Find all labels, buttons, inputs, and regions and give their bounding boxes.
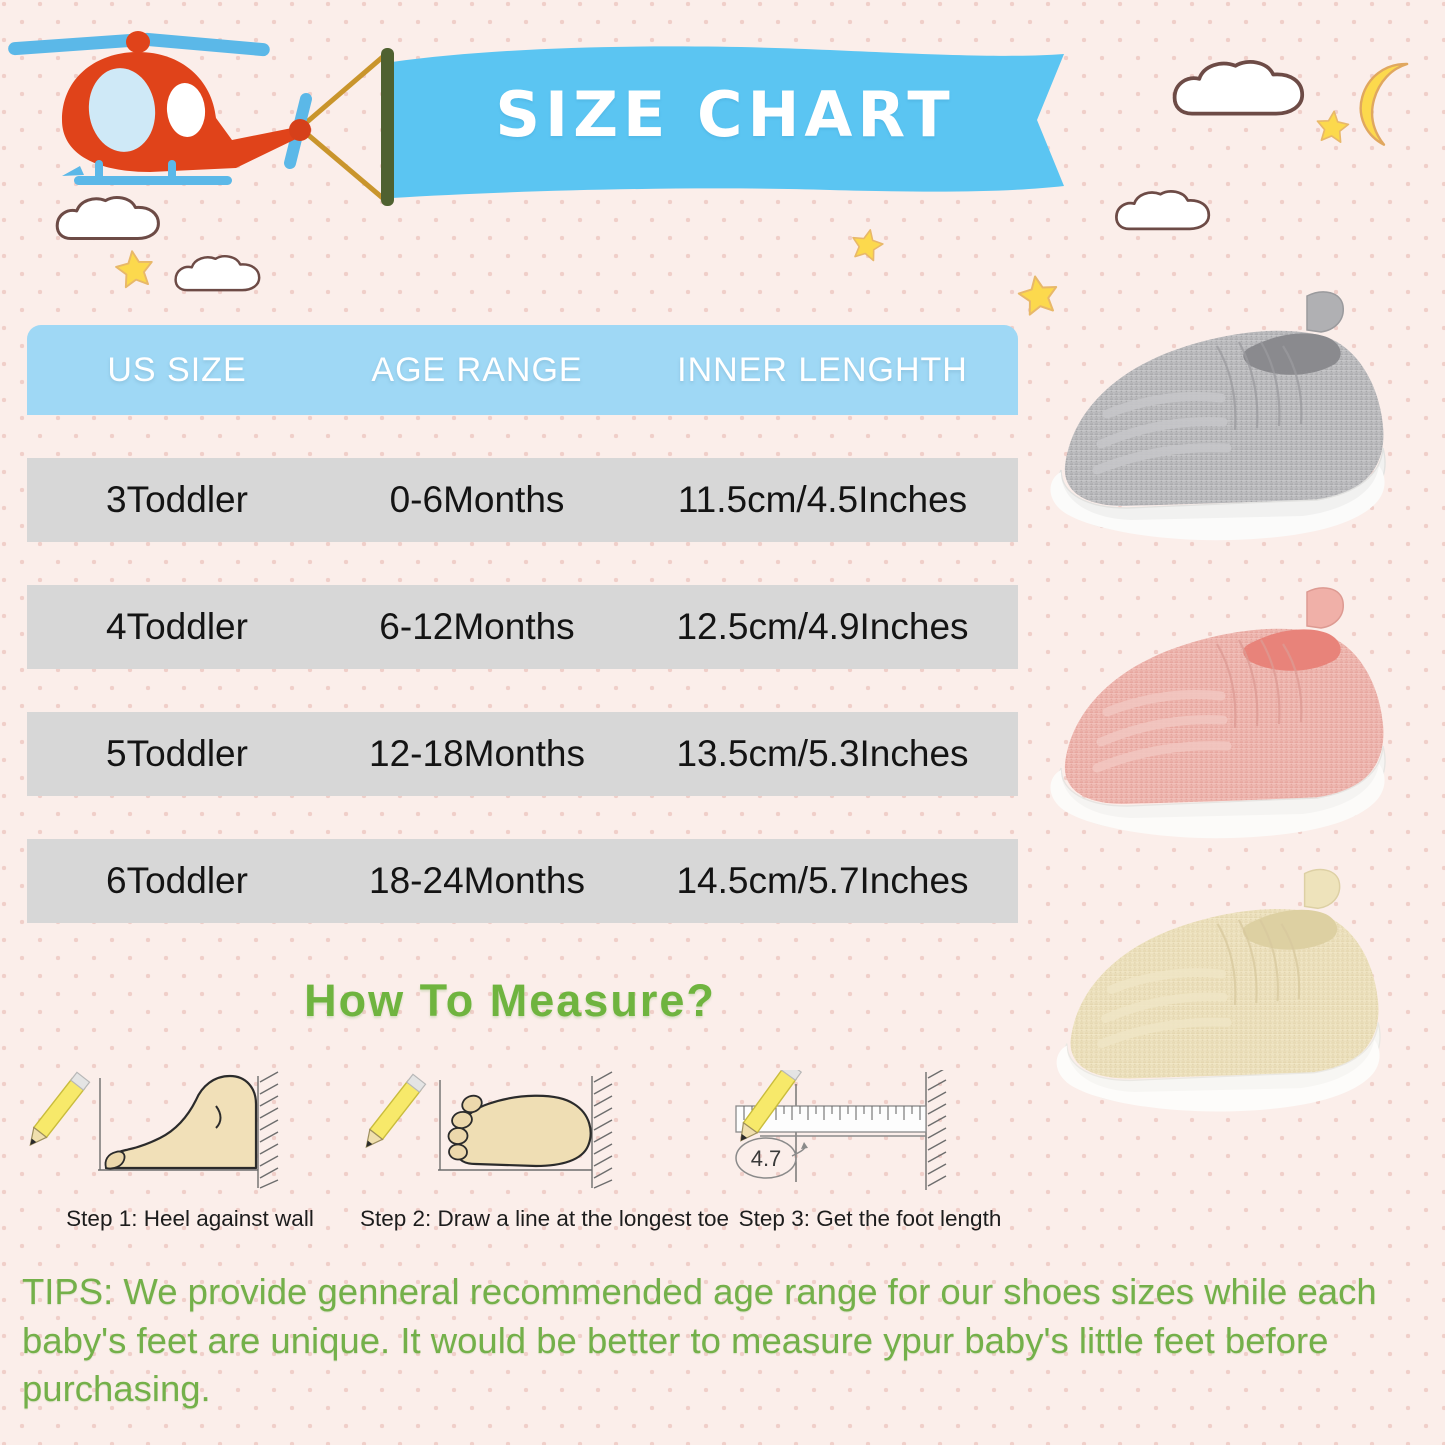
- beige-knit-baby-sneaker: [1035, 860, 1435, 1150]
- star-icon: [1316, 110, 1350, 143]
- step-1-caption: Step 1: Heel against wall: [20, 1206, 360, 1232]
- cell-age-range: 18-24Months: [327, 860, 627, 902]
- cell-us-size: 3Toddler: [27, 479, 327, 521]
- cell-us-size: 6Toddler: [27, 860, 327, 902]
- pencil-icon: [24, 1072, 90, 1150]
- table-header-row: US SIZE AGE RANGE INNER LENGHTH: [27, 325, 1018, 415]
- cell-age-range: 0-6Months: [327, 479, 627, 521]
- banner-ropes: [300, 55, 385, 200]
- wall-icon: [592, 1072, 612, 1188]
- banner-header: SIZE CHART: [0, 0, 1080, 240]
- step-2-caption: Step 2: Draw a line at the longest toe: [360, 1206, 700, 1232]
- table-row: 6Toddler 18-24Months 14.5cm/5.7Inches: [27, 839, 1018, 923]
- measurement-value: 4.7: [751, 1146, 782, 1171]
- column-header-us-size: US SIZE: [27, 351, 327, 390]
- cell-age-range: 6-12Months: [327, 606, 627, 648]
- measure-steps: Step 1: Heel against wall: [20, 1070, 1040, 1232]
- column-header-age-range: AGE RANGE: [327, 351, 627, 390]
- cell-us-size: 5Toddler: [27, 733, 327, 775]
- page-title: SIZE CHART: [455, 78, 995, 151]
- measure-step-2: Step 2: Draw a line at the longest toe: [360, 1070, 700, 1232]
- wall-icon: [258, 1072, 278, 1188]
- measurement-callout: 4.7: [736, 1138, 808, 1178]
- banner-pole: [381, 48, 394, 206]
- cell-inner-length: 14.5cm/5.7Inches: [627, 860, 1018, 902]
- size-chart-page: SIZE CHART US SIZE AGE RANGE INNER LENGH…: [0, 0, 1445, 1445]
- step-3-illustration: 4.7: [700, 1070, 1040, 1200]
- wall-icon: [926, 1070, 946, 1190]
- table-row: 4Toddler 6-12Months 12.5cm/4.9Inches: [27, 585, 1018, 669]
- cell-us-size: 4Toddler: [27, 606, 327, 648]
- tips-paragraph: TIPS: We provide genneral recommended ag…: [22, 1268, 1422, 1414]
- step-3-caption: Step 3: Get the foot length: [700, 1206, 1040, 1232]
- measure-step-1: Step 1: Heel against wall: [20, 1070, 360, 1232]
- moon-icon: [1351, 55, 1407, 145]
- table-row: 5Toddler 12-18Months 13.5cm/5.3Inches: [27, 712, 1018, 796]
- size-table: US SIZE AGE RANGE INNER LENGHTH 3Toddler…: [27, 325, 1018, 923]
- table-row: 3Toddler 0-6Months 11.5cm/4.5Inches: [27, 458, 1018, 542]
- measure-step-3: 4.7 Step 3: Get the foot length: [700, 1070, 1040, 1232]
- star-icon: [114, 249, 155, 288]
- pink-knit-baby-sneaker: [1035, 578, 1435, 878]
- cell-inner-length: 11.5cm/4.5Inches: [627, 479, 1018, 521]
- gray-knit-baby-sneaker: [1035, 280, 1435, 580]
- cell-age-range: 12-18Months: [327, 733, 627, 775]
- how-to-measure-title: How To Measure?: [0, 975, 1020, 1027]
- foot-side-icon: [106, 1076, 256, 1168]
- cell-inner-length: 13.5cm/5.3Inches: [627, 733, 1018, 775]
- cell-inner-length: 12.5cm/4.9Inches: [627, 606, 1018, 648]
- step-2-illustration: [360, 1070, 700, 1200]
- helicopter-icon: [8, 31, 314, 185]
- cloud-icon: [1175, 62, 1303, 114]
- pencil-icon: [360, 1074, 426, 1152]
- cloud-icon: [1116, 191, 1208, 228]
- cloud-icon: [176, 256, 260, 290]
- step-1-illustration: [20, 1070, 360, 1200]
- column-header-inner-length: INNER LENGHTH: [627, 351, 1018, 390]
